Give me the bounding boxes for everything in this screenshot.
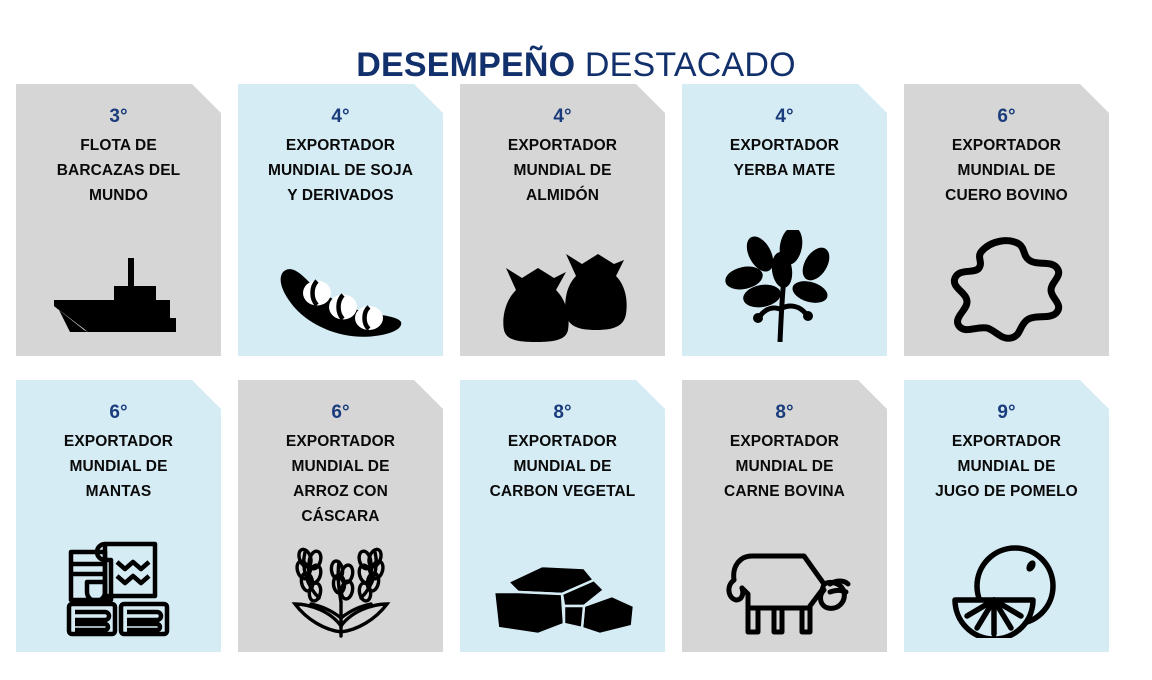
card-rank: 8°	[691, 402, 878, 424]
achievement-card[interactable]: 3° FLOTA DE BARCAZAS DEL MUNDO	[16, 84, 221, 356]
card-rank: 4°	[469, 106, 656, 128]
achievement-card[interactable]: 6° EXPORTADOR MUNDIAL DE CUERO BOVINO	[904, 84, 1109, 356]
card-label: EXPORTADOR MUNDIAL DE CARBON VEGETAL	[469, 429, 656, 504]
folded-blankets-icon	[16, 534, 221, 638]
starch-sacks-icon	[460, 250, 665, 342]
card-rank: 3°	[25, 106, 212, 128]
card-rank: 9°	[913, 402, 1100, 424]
card-label: EXPORTADOR YERBA MATE	[691, 133, 878, 183]
cowhide-icon	[904, 234, 1109, 342]
achievement-card[interactable]: 8° EXPORTADOR MUNDIAL DE CARNE BOVINA	[682, 380, 887, 652]
yerba-mate-branch-icon	[682, 230, 887, 342]
achievement-card[interactable]: 4° EXPORTADOR MUNDIAL DE SOJA Y DERIVADO…	[238, 84, 443, 356]
achievement-card[interactable]: 6° EXPORTADOR MUNDIAL DE ARROZ CON CÁSCA…	[238, 380, 443, 652]
card-rank: 4°	[247, 106, 434, 128]
card-rank: 6°	[247, 402, 434, 424]
grapefruit-slice-icon	[904, 542, 1109, 638]
page-title-light: DESTACADO	[575, 46, 796, 84]
card-label: EXPORTADOR MUNDIAL DE CARNE BOVINA	[691, 429, 878, 504]
card-label: EXPORTADOR MUNDIAL DE MANTAS	[25, 429, 212, 504]
achievement-card[interactable]: 4° EXPORTADOR YERBA MATE	[682, 84, 887, 356]
clipped-text-remnant: ÓQ	[580, 0, 602, 5]
achievement-card[interactable]: 9° EXPORTADOR MUNDIAL DE JUGO DE POMELO	[904, 380, 1109, 652]
card-rank: 8°	[469, 402, 656, 424]
charcoal-chunks-icon	[460, 562, 665, 638]
achievement-card[interactable]: 4° EXPORTADOR MUNDIAL DE ALMIDÓN	[460, 84, 665, 356]
page-title: DESEMPEÑO DESTACADO	[0, 45, 1152, 85]
rice-stalks-icon	[238, 546, 443, 638]
soybean-pod-icon	[238, 262, 443, 342]
barge-ship-icon	[16, 256, 221, 342]
card-label: EXPORTADOR MUNDIAL DE JUGO DE POMELO	[913, 429, 1100, 504]
achievement-card[interactable]: 6° EXPORTADOR MUNDIAL DE MANTAS	[16, 380, 221, 652]
card-rank: 4°	[691, 106, 878, 128]
page-title-strong: DESEMPEÑO	[356, 46, 575, 84]
card-label: EXPORTADOR MUNDIAL DE CUERO BOVINO	[913, 133, 1100, 208]
card-label: FLOTA DE BARCAZAS DEL MUNDO	[25, 133, 212, 208]
achievement-card[interactable]: 8° EXPORTADOR MUNDIAL DE CARBON VEGETAL	[460, 380, 665, 652]
grazing-cow-icon	[682, 550, 887, 638]
card-rank: 6°	[913, 106, 1100, 128]
card-label: EXPORTADOR MUNDIAL DE ARROZ CON CÁSCARA	[247, 429, 434, 529]
card-label: EXPORTADOR MUNDIAL DE ALMIDÓN	[469, 133, 656, 208]
card-label: EXPORTADOR MUNDIAL DE SOJA Y DERIVADOS	[247, 133, 434, 208]
achievement-card-grid: 3° FLOTA DE BARCAZAS DEL MUNDO 4° EXPORT…	[16, 84, 1136, 652]
card-rank: 6°	[25, 402, 212, 424]
